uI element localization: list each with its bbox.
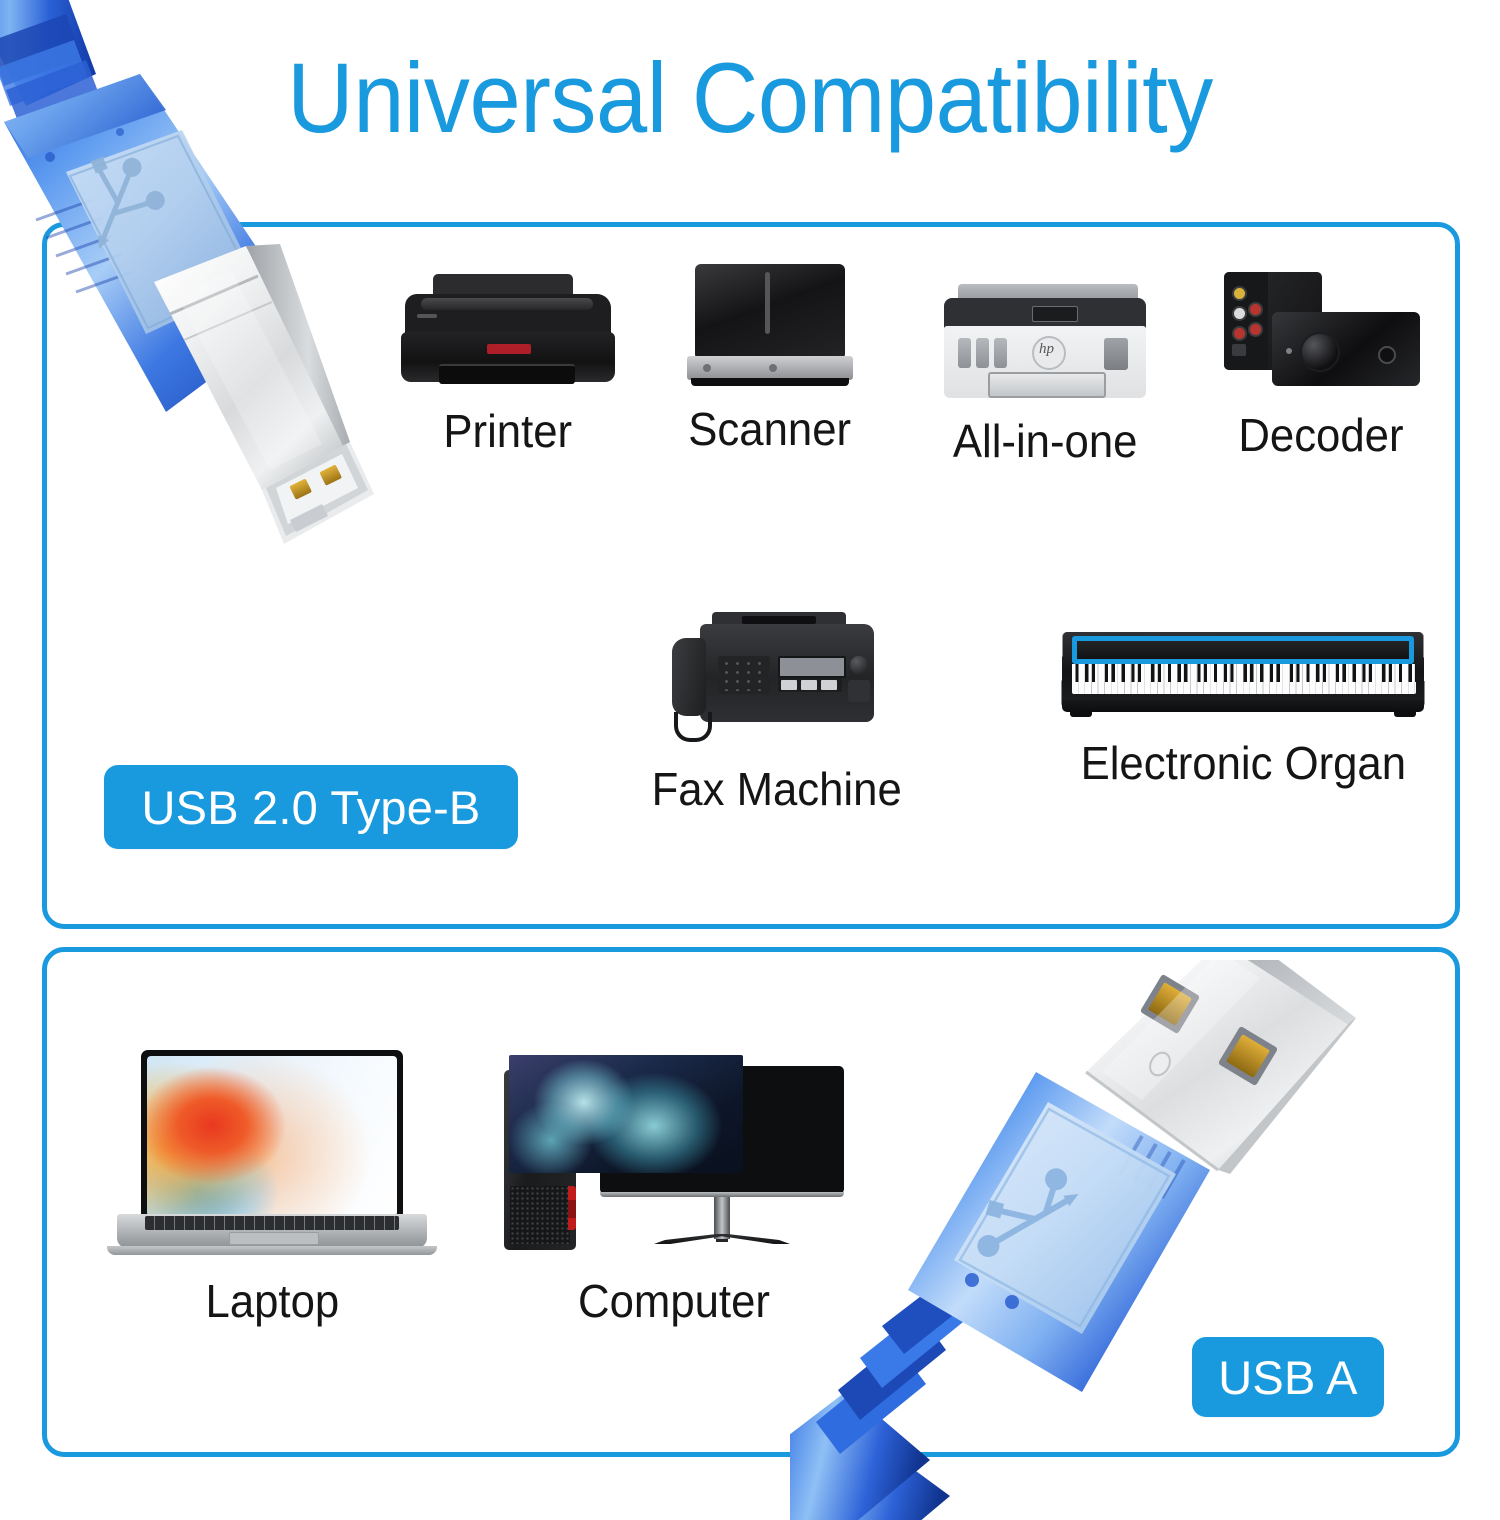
device-label: Computer [578, 1274, 770, 1328]
page-title: Universal Compatibility [53, 46, 1448, 150]
usb-a-connector [790, 960, 1410, 1520]
laptop-icon [99, 1050, 445, 1264]
device-label: All-in-one [953, 414, 1138, 468]
device-label: Laptop [205, 1274, 339, 1328]
device-printer: Printer [388, 274, 628, 458]
decoder-icon [1216, 268, 1426, 398]
badge-usb-a: USB A [1192, 1337, 1384, 1417]
device-electronic-organ: Electronic Organ [1043, 630, 1443, 790]
device-label: Decoder [1238, 408, 1403, 462]
scanner-icon [687, 264, 853, 392]
device-label: Scanner [689, 402, 852, 456]
device-label: Fax Machine [652, 762, 902, 816]
fax-machine-icon [670, 612, 884, 752]
all-in-one-printer-icon [936, 280, 1154, 404]
badge-usb-type-b: USB 2.0 Type-B [104, 765, 518, 849]
device-decoder: Decoder [1205, 268, 1437, 462]
printer-icon [399, 274, 617, 394]
device-scanner: Scanner [660, 264, 880, 456]
electronic-organ-icon [1054, 630, 1432, 726]
device-label: Electronic Organ [1080, 736, 1405, 790]
infographic-canvas: Universal Compatibility [0, 0, 1500, 1500]
device-label: Printer [444, 404, 573, 458]
device-all-in-one: All-in-one [920, 280, 1170, 468]
device-laptop: Laptop [92, 1050, 452, 1328]
device-fax-machine: Fax Machine [652, 612, 902, 816]
